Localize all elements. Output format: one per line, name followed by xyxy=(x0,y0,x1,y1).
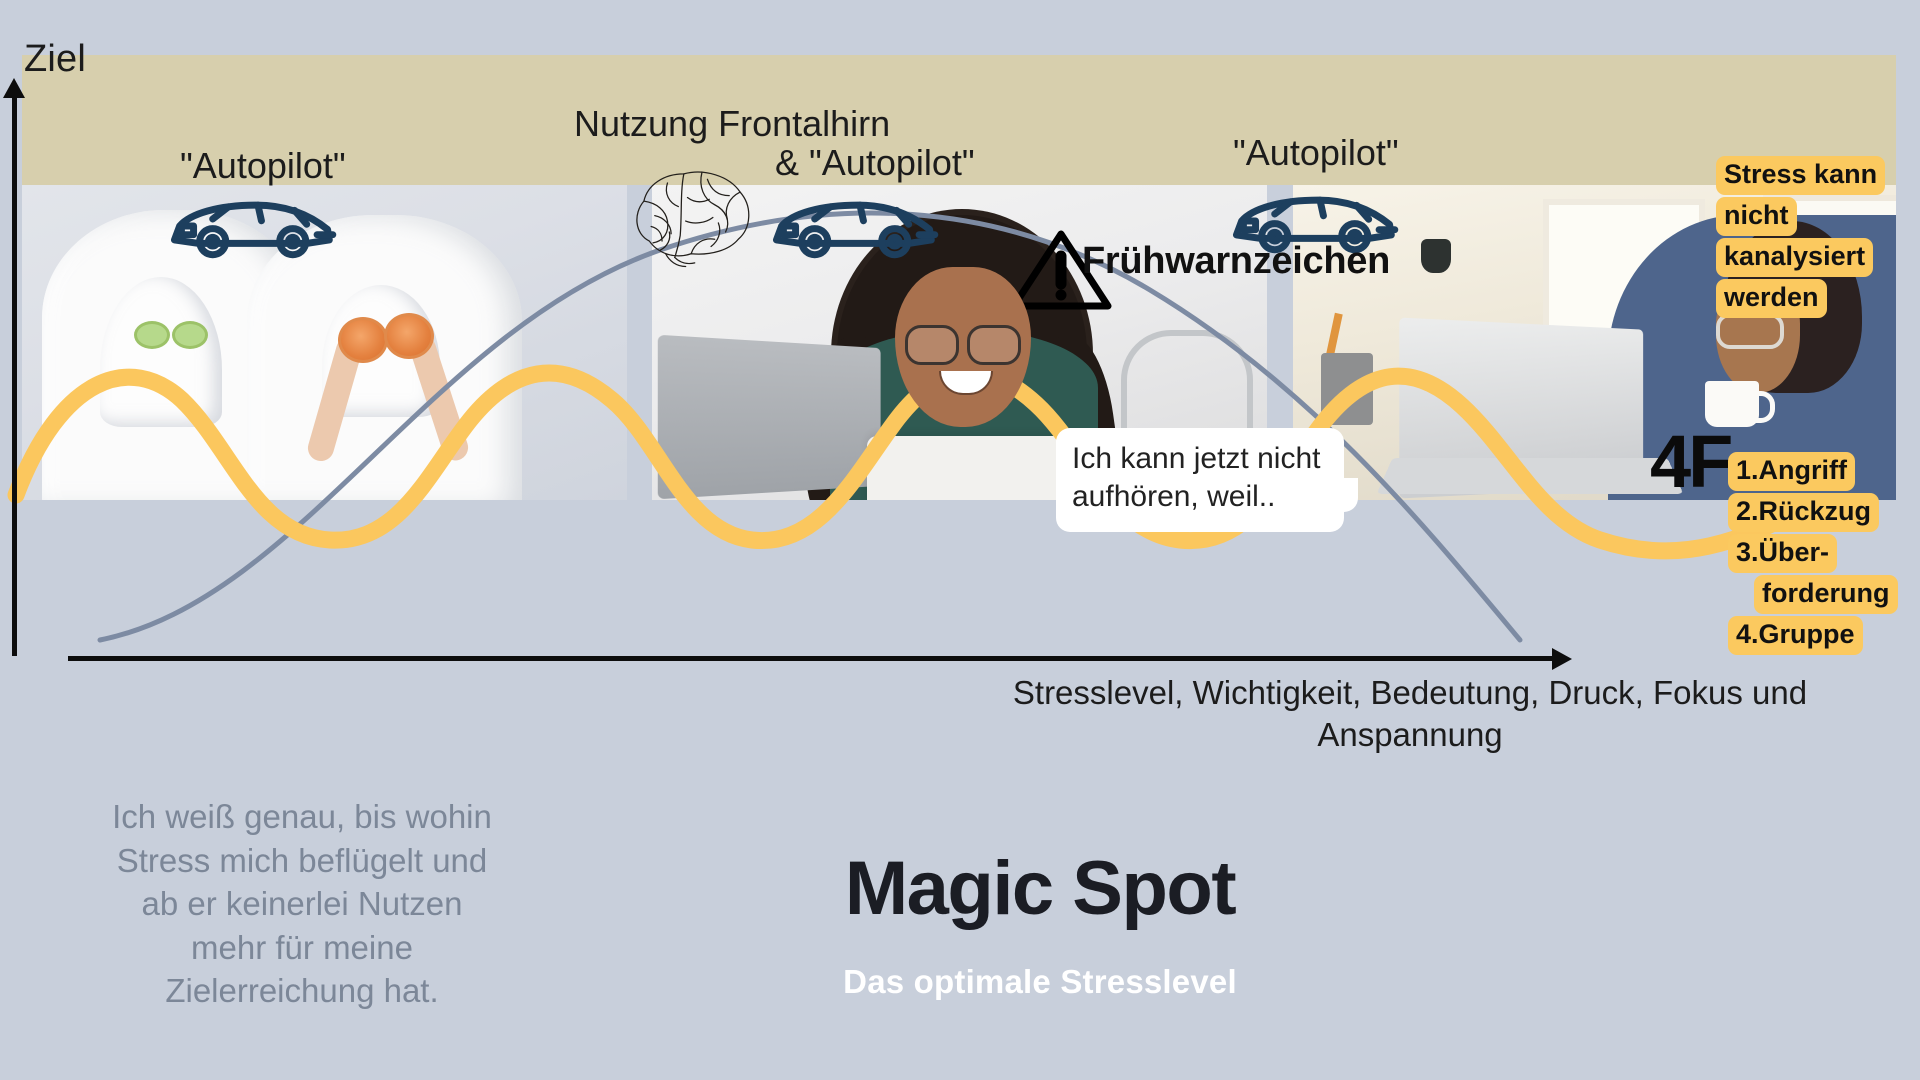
quote-line: Zielerreichung hat. xyxy=(92,969,512,1013)
note-list-item: 4.Gruppe xyxy=(1728,616,1863,655)
page-title: Magic Spot xyxy=(600,845,1480,932)
quote-line: Stress mich beflügelt und xyxy=(92,839,512,883)
page-subtitle: Das optimale Stresslevel xyxy=(600,963,1480,1001)
laptop-screen xyxy=(658,335,881,499)
infographic-canvas: Ziel Stresslevel, Wichtigkeit, Bedeutung… xyxy=(0,0,1920,1080)
panel-2-caption-line2: & "Autopilot" xyxy=(775,142,975,184)
note-line: werden xyxy=(1716,279,1827,318)
note-stress-not-channeled: Stress kann nicht kanalysiert werden xyxy=(1716,156,1916,320)
y-axis-label: Ziel xyxy=(24,38,86,81)
cucumber-slice-right-eye xyxy=(172,321,208,349)
eyeglass-left xyxy=(905,325,959,365)
car-icon xyxy=(164,190,338,262)
panel-1-caption: "Autopilot" xyxy=(180,145,346,187)
car-icon xyxy=(766,190,940,262)
speech-bubble-line2: aufhören, weil.. xyxy=(1072,478,1328,516)
note-list-item: forderung xyxy=(1754,575,1898,614)
note-line: Stress kann xyxy=(1716,156,1885,195)
note-list-item: 2.Rückzug xyxy=(1728,493,1879,532)
quote-line: mehr für meine xyxy=(92,926,512,970)
early-warning-label: Frühwarnzeichen xyxy=(1082,240,1390,283)
quote-text: Ich weiß genau, bis wohin Stress mich be… xyxy=(92,795,512,1013)
speech-bubble-tail xyxy=(1324,478,1358,512)
x-axis-line xyxy=(68,656,1558,661)
cucumber-slice-left-eye xyxy=(134,321,170,349)
tomato-slice-left-eye xyxy=(338,317,388,363)
note-line: nicht xyxy=(1716,197,1797,236)
smile xyxy=(939,371,993,395)
quote-line: Ich weiß genau, bis wohin xyxy=(92,795,512,839)
speech-bubble: Ich kann jetzt nicht aufhören, weil.. xyxy=(1056,428,1344,532)
eyeglass-right xyxy=(967,325,1021,365)
pen-holder xyxy=(1321,353,1373,425)
note-list-item: 1.Angriff xyxy=(1728,452,1855,491)
brain-icon xyxy=(622,163,762,281)
laptop-keyboard xyxy=(1377,458,1684,494)
four-f-label: 4F xyxy=(1650,425,1730,499)
x-axis-arrowhead xyxy=(1552,648,1572,670)
panel-3-caption: "Autopilot" xyxy=(1233,132,1399,174)
y-axis-line xyxy=(12,88,17,656)
tomato-slice-right-eye xyxy=(384,313,434,359)
quote-line: ab er keinerlei Nutzen xyxy=(92,882,512,926)
note-line: kanalysiert xyxy=(1716,238,1873,277)
panel-2-caption-line1: Nutzung Frontalhirn xyxy=(574,103,890,145)
note-four-f-list: 1.Angriff 2.Rückzug 3.Über- forderung 4.… xyxy=(1728,452,1920,657)
note-list-item: 3.Über- xyxy=(1728,534,1837,573)
speech-bubble-line1: Ich kann jetzt nicht xyxy=(1072,440,1328,478)
plant xyxy=(1421,239,1451,273)
x-axis-label: Stresslevel, Wichtigkeit, Bedeutung, Dru… xyxy=(960,672,1860,756)
